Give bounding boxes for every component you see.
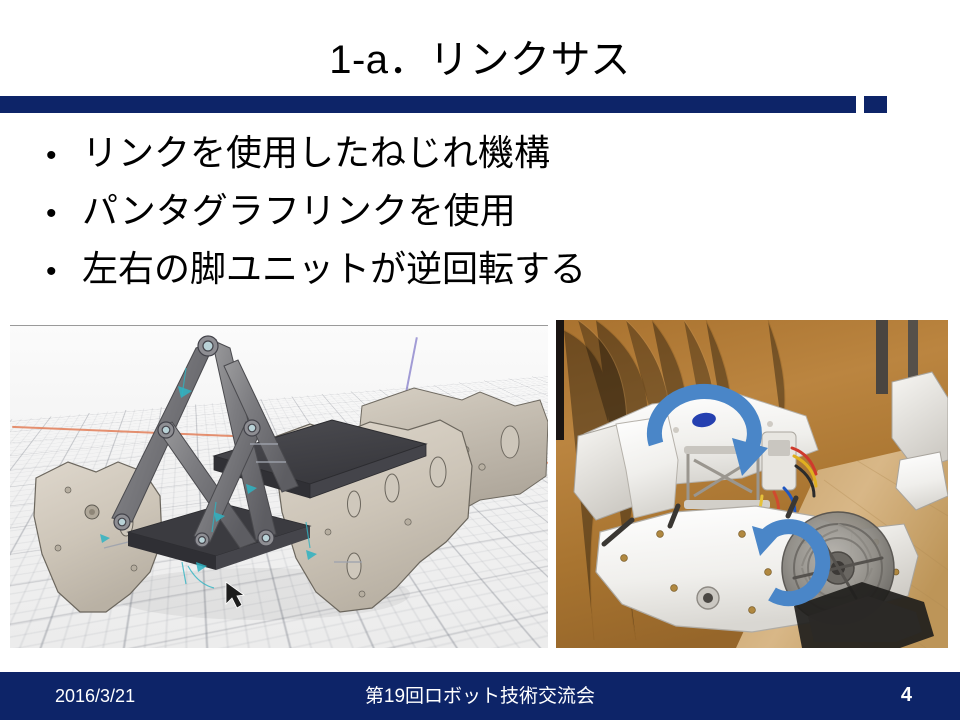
page-title: 1-a．リンクサス [0,34,960,86]
list-item: • 左右の脚ユニットが逆回転する [46,240,786,298]
footer-event-name: 第19回ロボット技術交流会 [0,685,960,709]
list-item-label: パンタグラフリンクを使用 [82,182,516,240]
title-accent-square [864,96,887,113]
slide-canvas: 1-a．リンクサス • リンクを使用したねじれ機構 • パンタグラフリンクを使用… [0,0,960,720]
cad-model-image [10,325,548,648]
title-underline-bar [0,96,856,113]
list-item-label: リンクを使用したねじれ機構 [82,124,550,182]
list-item-label: 左右の脚ユニットが逆回転する [82,240,586,298]
bullet-marker-icon: • [46,243,82,301]
bullet-marker-icon: • [46,185,82,243]
cad-model-geometry [10,326,548,648]
list-item: • リンクを使用したねじれ機構 [46,124,786,182]
robot-prototype-image [556,320,948,648]
list-item: • パンタグラフリンクを使用 [46,182,786,240]
robot-photo-content [556,320,948,648]
bullet-marker-icon: • [46,127,82,185]
footer-page-number: 4 [901,683,912,707]
bullet-list: • リンクを使用したねじれ機構 • パンタグラフリンクを使用 • 左右の脚ユニッ… [46,124,786,298]
